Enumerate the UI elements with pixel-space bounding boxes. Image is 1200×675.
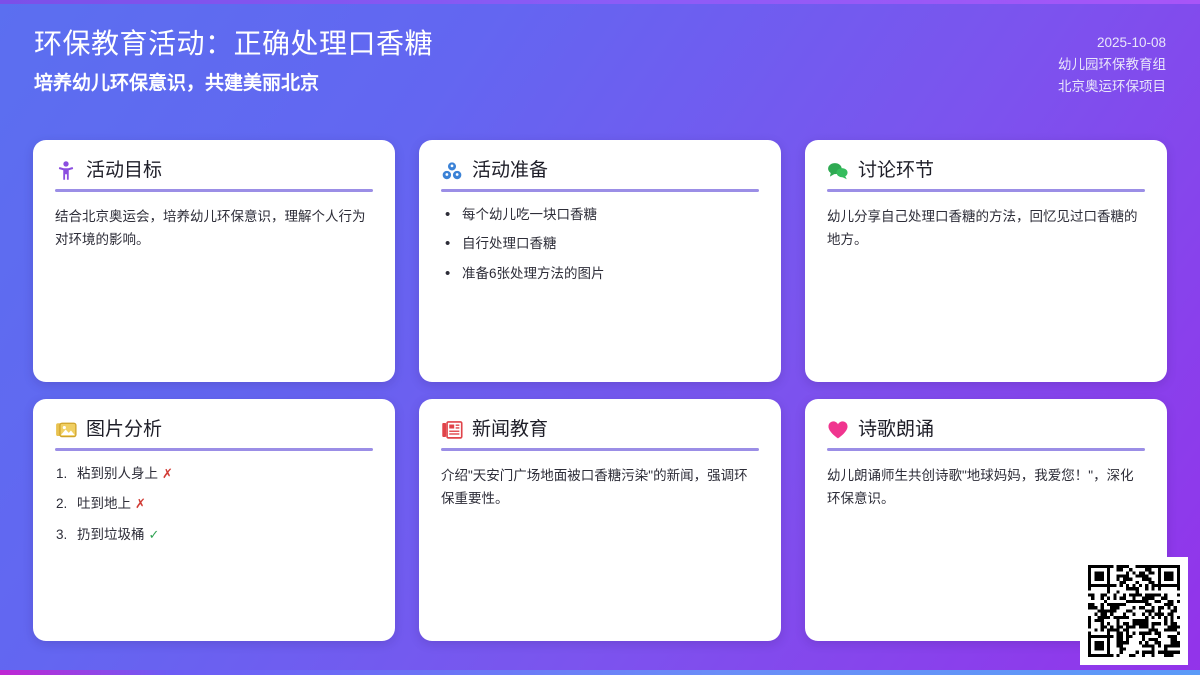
list-item: 每个幼儿吃一块口香糖 xyxy=(441,205,759,225)
qr-code-graphic xyxy=(1088,565,1180,657)
card-header: 新闻教育 xyxy=(441,419,759,448)
card-divider xyxy=(441,448,759,451)
slide-header: 环保教育活动：正确处理口香糖 培养幼儿环保意识，共建美丽北京 2025-10-0… xyxy=(0,0,1200,126)
list-item: 扔到垃圾桶✓ xyxy=(55,525,373,545)
card-body: 结合北京奥运会，培养幼儿环保意识，理解个人行为对环境的影响。 xyxy=(55,205,373,251)
card-discussion-session[interactable]: 讨论环节 幼儿分享自己处理口香糖的方法，回忆见过口香糖的地方。 xyxy=(805,140,1167,382)
qr-code[interactable] xyxy=(1080,557,1188,665)
card-paragraph: 介绍"天安门广场地面被口香糖污染"的新闻，强调环保重要性。 xyxy=(441,464,759,510)
card-news-education[interactable]: 新闻教育 介绍"天安门广场地面被口香糖污染"的新闻，强调环保重要性。 xyxy=(419,399,781,641)
card-title: 活动目标 xyxy=(86,160,162,182)
card-paragraph: 幼儿分享自己处理口香糖的方法，回忆见过口香糖的地方。 xyxy=(827,205,1145,251)
card-activity-preparation[interactable]: 活动准备 每个幼儿吃一块口香糖 自行处理口香糖 准备6张处理方法的图片 xyxy=(419,140,781,382)
list-item-text: 扔到垃圾桶 xyxy=(77,527,145,542)
card-body: 幼儿分享自己处理口香糖的方法，回忆见过口香糖的地方。 xyxy=(827,205,1145,251)
top-accent-strip xyxy=(0,0,1200,4)
list-item: 准备6张处理方法的图片 xyxy=(441,264,759,284)
card-paragraph: 幼儿朗诵师生共创诗歌"地球妈妈，我爱您！"，深化环保意识。 xyxy=(827,464,1145,510)
card-paragraph: 结合北京奥运会，培养幼儿环保意识，理解个人行为对环境的影响。 xyxy=(55,205,373,251)
list-item: 吐到地上✗ xyxy=(55,494,373,514)
card-header: 诗歌朗诵 xyxy=(827,419,1145,448)
newspaper-icon xyxy=(441,419,463,441)
bullet-list: 每个幼儿吃一块口香糖 自行处理口香糖 准备6张处理方法的图片 xyxy=(441,205,759,284)
status-mark-bad: ✗ xyxy=(135,496,146,511)
card-divider xyxy=(441,189,759,192)
header-title-block: 环保教育活动：正确处理口香糖 培养幼儿环保意识，共建美丽北京 xyxy=(34,26,433,97)
list-item: 粘到别人身上✗ xyxy=(55,464,373,484)
header-meta-block: 2025-10-08 幼儿园环保教育组 北京奥运环保项目 xyxy=(1058,26,1166,98)
card-title: 图片分析 xyxy=(86,419,162,441)
card-title: 活动准备 xyxy=(472,160,548,182)
card-body: 幼儿朗诵师生共创诗歌"地球妈妈，我爱您！"，深化环保意识。 xyxy=(827,464,1145,510)
card-title: 讨论环节 xyxy=(858,160,934,182)
numbered-list: 粘到别人身上✗ 吐到地上✗ 扔到垃圾桶✓ xyxy=(55,464,373,545)
card-header: 图片分析 xyxy=(55,419,373,448)
list-item-text: 吐到地上 xyxy=(77,496,131,511)
status-mark-good: ✓ xyxy=(149,527,160,542)
list-item-text: 粘到别人身上 xyxy=(77,466,158,481)
standing-person-icon xyxy=(55,160,77,182)
card-divider xyxy=(827,189,1145,192)
list-item: 自行处理口香糖 xyxy=(441,234,759,254)
status-mark-bad: ✗ xyxy=(162,466,173,481)
meta-date: 2025-10-08 xyxy=(1058,32,1166,54)
card-divider xyxy=(827,448,1145,451)
card-title: 诗歌朗诵 xyxy=(858,419,934,441)
card-header: 活动准备 xyxy=(441,160,759,189)
speech-bubbles-icon xyxy=(827,160,849,182)
page-subtitle: 培养幼儿环保意识，共建美丽北京 xyxy=(34,72,433,97)
bottom-accent-strip xyxy=(0,670,1200,675)
page-title: 环保教育活动：正确处理口香糖 xyxy=(34,26,433,63)
card-body: 粘到别人身上✗ 吐到地上✗ 扔到垃圾桶✓ xyxy=(55,464,373,555)
card-header: 讨论环节 xyxy=(827,160,1145,189)
card-divider xyxy=(55,448,373,451)
blocks-icon xyxy=(441,160,463,182)
meta-project: 北京奥运环保项目 xyxy=(1058,76,1166,98)
card-body: 每个幼儿吃一块口香糖 自行处理口香糖 准备6张处理方法的图片 xyxy=(441,205,759,293)
card-body: 介绍"天安门广场地面被口香糖污染"的新闻，强调环保重要性。 xyxy=(441,464,759,510)
card-divider xyxy=(55,189,373,192)
picture-icon xyxy=(55,419,77,441)
meta-organization: 幼儿园环保教育组 xyxy=(1058,54,1166,76)
card-header: 活动目标 xyxy=(55,160,373,189)
heart-icon xyxy=(827,419,849,441)
card-activity-goal[interactable]: 活动目标 结合北京奥运会，培养幼儿环保意识，理解个人行为对环境的影响。 xyxy=(33,140,395,382)
card-title: 新闻教育 xyxy=(472,419,548,441)
card-grid: 活动目标 结合北京奥运会，培养幼儿环保意识，理解个人行为对环境的影响。 活动准备 xyxy=(33,140,1167,641)
card-picture-analysis[interactable]: 图片分析 粘到别人身上✗ 吐到地上✗ 扔到垃圾桶✓ xyxy=(33,399,395,641)
